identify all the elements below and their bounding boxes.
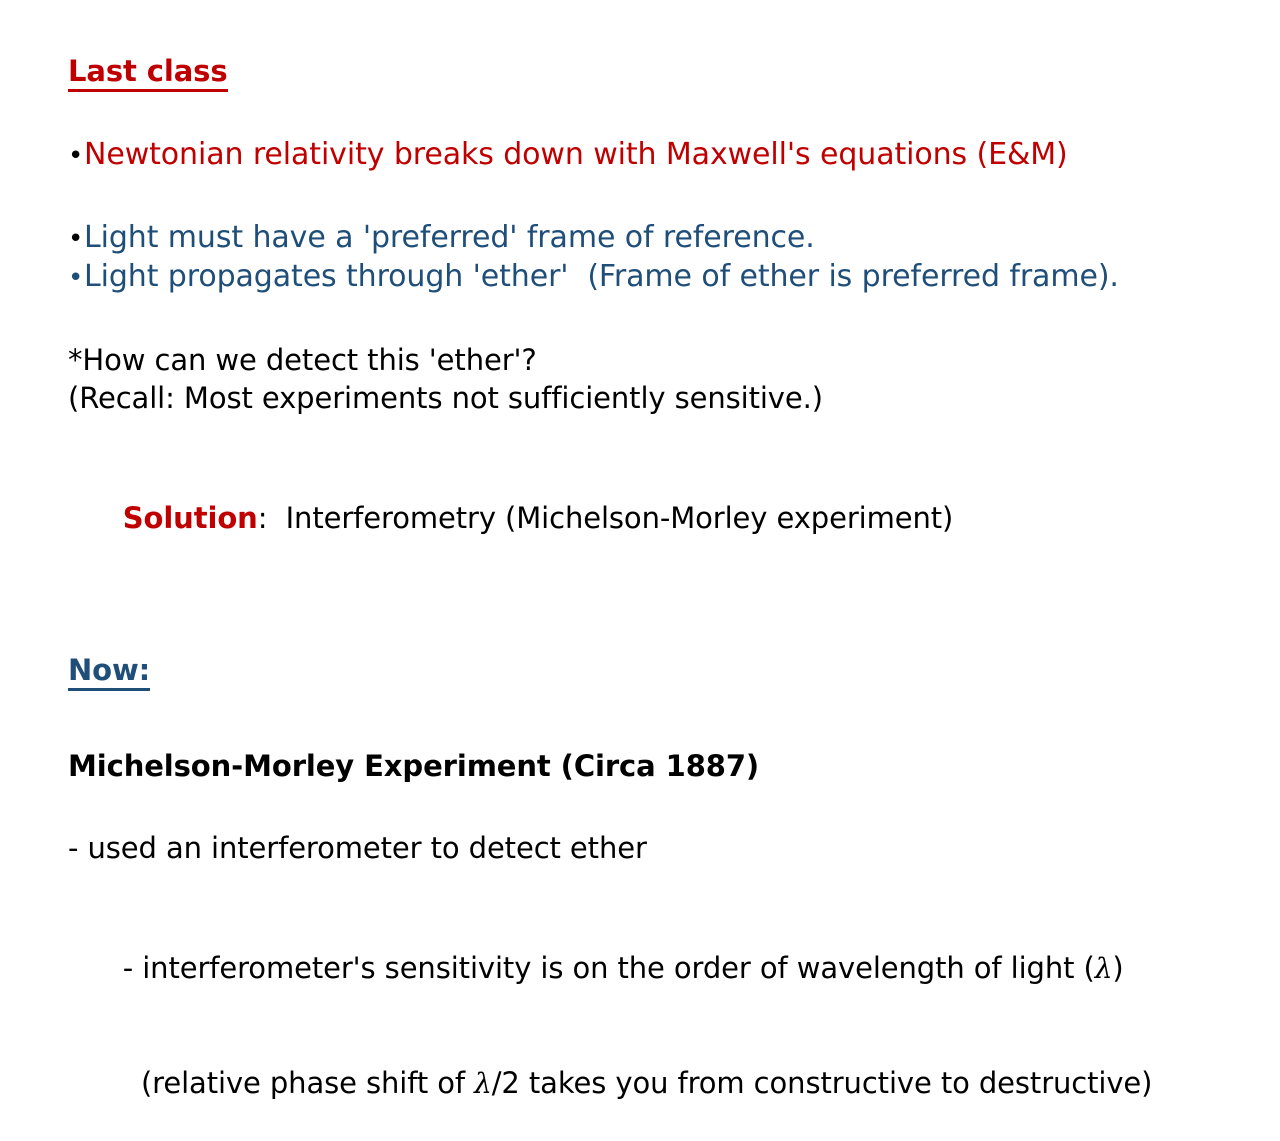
heading-last-class-wrap: Last class bbox=[68, 54, 1248, 92]
spacer bbox=[68, 92, 1248, 136]
spacer bbox=[68, 691, 1248, 747]
lambda-symbol-icon: λ bbox=[474, 1067, 492, 1100]
bullet-item-ether-propagation: • Light propagates through 'ether' (Fram… bbox=[68, 258, 1248, 297]
slide-content: Last class • Newtonian relativity breaks… bbox=[68, 54, 1248, 1141]
bullet-text-newtonian-relativity: Newtonian relativity breaks down with Ma… bbox=[84, 136, 1068, 174]
question-line-detect-ether: *How can we detect this 'ether'? bbox=[68, 341, 1248, 379]
heading-michelson-morley-experiment: Michelson-Morley Experiment (Circa 1887) bbox=[68, 747, 1248, 785]
dash-line-sensitivity-post: ) bbox=[1112, 951, 1123, 985]
bullet-dot-icon: • bbox=[68, 259, 84, 297]
dash-line-phase-shift: (relative phase shift of λ/2 takes you f… bbox=[68, 1026, 1248, 1141]
dash-line-sensitivity-pre: - interferometer's sensitivity is on the… bbox=[123, 951, 1095, 985]
dash-line-phase-shift-post: /2 takes you from constructive to destru… bbox=[492, 1066, 1153, 1100]
recall-line-experiments-sensitive: (Recall: Most experiments not sufficient… bbox=[68, 379, 1248, 417]
bullet-dot-icon: • bbox=[68, 220, 84, 258]
dash-line-phase-shift-pre: (relative phase shift of bbox=[123, 1066, 474, 1100]
heading-now: Now: bbox=[68, 653, 150, 691]
spacer bbox=[68, 867, 1248, 911]
spacer bbox=[68, 417, 1248, 461]
lambda-symbol-icon: λ bbox=[1095, 952, 1113, 985]
bullet-text-preferred-frame: Light must have a 'preferred' frame of r… bbox=[84, 219, 815, 257]
dash-line-sensitivity: - interferometer's sensitivity is on the… bbox=[68, 911, 1248, 1026]
bullet-dot-icon: • bbox=[68, 137, 84, 175]
spacer bbox=[68, 297, 1248, 341]
solution-rest: : Interferometry (Michelson-Morley exper… bbox=[258, 501, 954, 535]
dash-line-used-interferometer: - used an interferometer to detect ether bbox=[68, 829, 1248, 867]
spacer bbox=[68, 785, 1248, 829]
heading-last-class: Last class bbox=[68, 54, 228, 92]
spacer bbox=[68, 175, 1248, 219]
bullet-text-ether-propagation: Light propagates through 'ether' (Frame … bbox=[84, 258, 1119, 296]
solution-label: Solution bbox=[123, 501, 258, 535]
solution-line: Solution: Interferometry (Michelson-Morl… bbox=[68, 461, 1248, 575]
bullet-item-newtonian-relativity: • Newtonian relativity breaks down with … bbox=[68, 136, 1248, 175]
slide-canvas: Last class • Newtonian relativity breaks… bbox=[0, 0, 1280, 989]
heading-now-wrap: Now: bbox=[68, 653, 1248, 691]
bullet-item-preferred-frame: • Light must have a 'preferred' frame of… bbox=[68, 219, 1248, 258]
spacer bbox=[68, 575, 1248, 653]
